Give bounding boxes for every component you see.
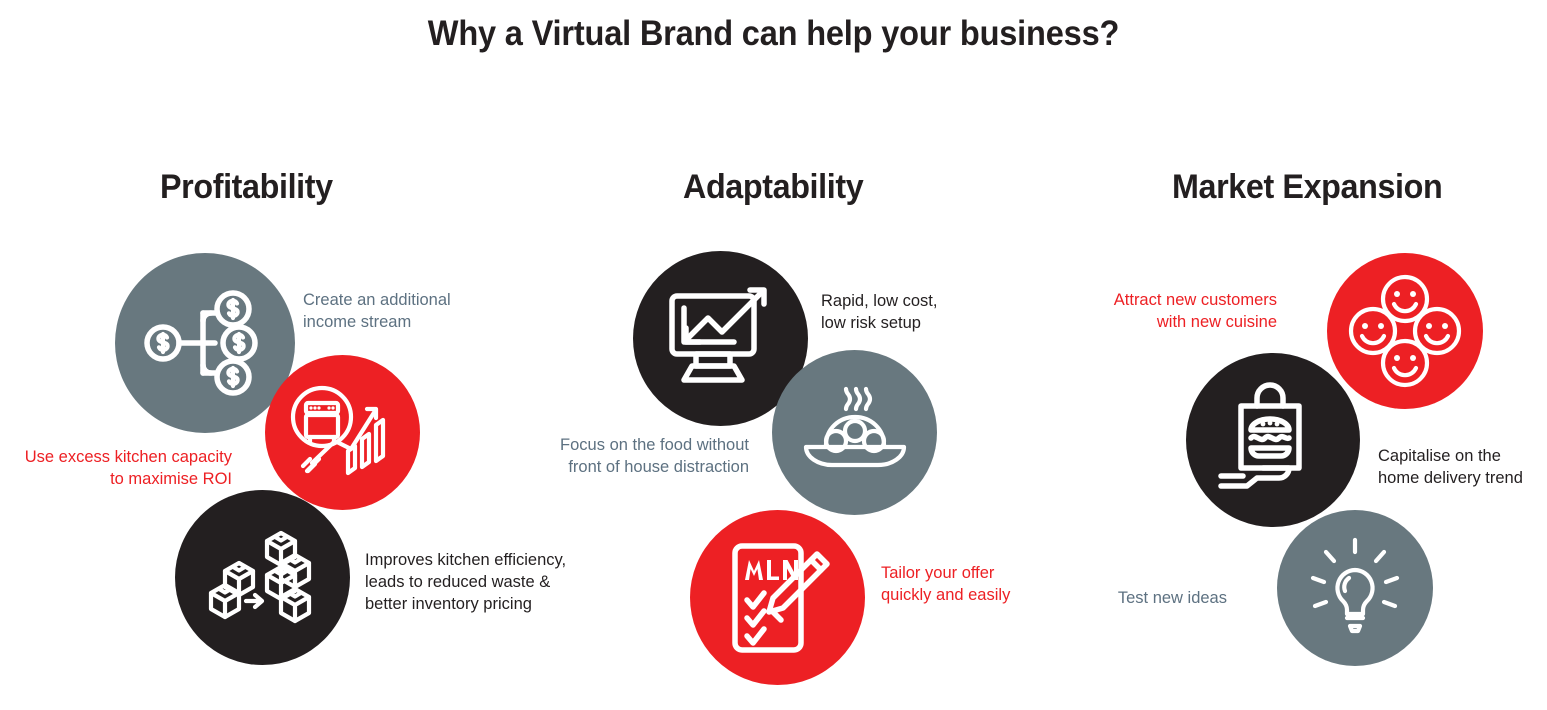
money-tree-icon	[145, 289, 265, 397]
caption-improves-kitchen-efficiency: Improves kitchen efficiency, leads to re…	[365, 549, 615, 615]
column-heading-adaptability: Adaptability	[683, 168, 863, 207]
infographic-canvas: Why a Virtual Brand can help your busine…	[0, 0, 1547, 710]
column-heading-profitability: Profitability	[160, 168, 333, 207]
page-title: Why a Virtual Brand can help your busine…	[54, 14, 1493, 54]
bubble-smiley-faces	[1327, 253, 1483, 409]
caption-create-additional-income: Create an additional income stream	[303, 289, 523, 333]
computer-chart-icon	[662, 284, 780, 394]
caption-use-excess-kitchen-capacity: Use excess kitchen capacity to maximise …	[0, 446, 232, 490]
bubble-lightbulb	[1277, 510, 1433, 666]
bubble-menu-clipboard	[690, 510, 865, 685]
caption-focus-on-the-food: Focus on the food without front of house…	[525, 434, 749, 478]
inventory-boxes-icon	[203, 523, 323, 633]
bubble-inventory-boxes	[175, 490, 350, 665]
menu-clipboard-pencil-icon	[723, 540, 833, 656]
bubble-money-tree	[115, 253, 295, 433]
bubble-pasta-dish	[772, 350, 937, 515]
pasta-dish-icon	[796, 387, 914, 479]
bubble-takeaway-bag	[1186, 353, 1360, 527]
bubble-oven-growth	[265, 355, 420, 510]
oven-growth-chart-icon	[289, 385, 397, 481]
caption-attract-new-customers: Attract new customers with new cuisine	[1055, 289, 1277, 333]
caption-test-new-ideas: Test new ideas	[1050, 587, 1227, 609]
column-heading-market-expansion: Market Expansion	[1172, 168, 1442, 207]
caption-rapid-low-cost: Rapid, low cost, low risk setup	[821, 290, 1021, 334]
takeaway-bag-hand-icon	[1215, 384, 1331, 496]
lightbulb-icon	[1305, 536, 1405, 640]
smiley-faces-icon	[1349, 275, 1461, 387]
caption-capitalise-home-delivery: Capitalise on the home delivery trend	[1378, 445, 1547, 489]
